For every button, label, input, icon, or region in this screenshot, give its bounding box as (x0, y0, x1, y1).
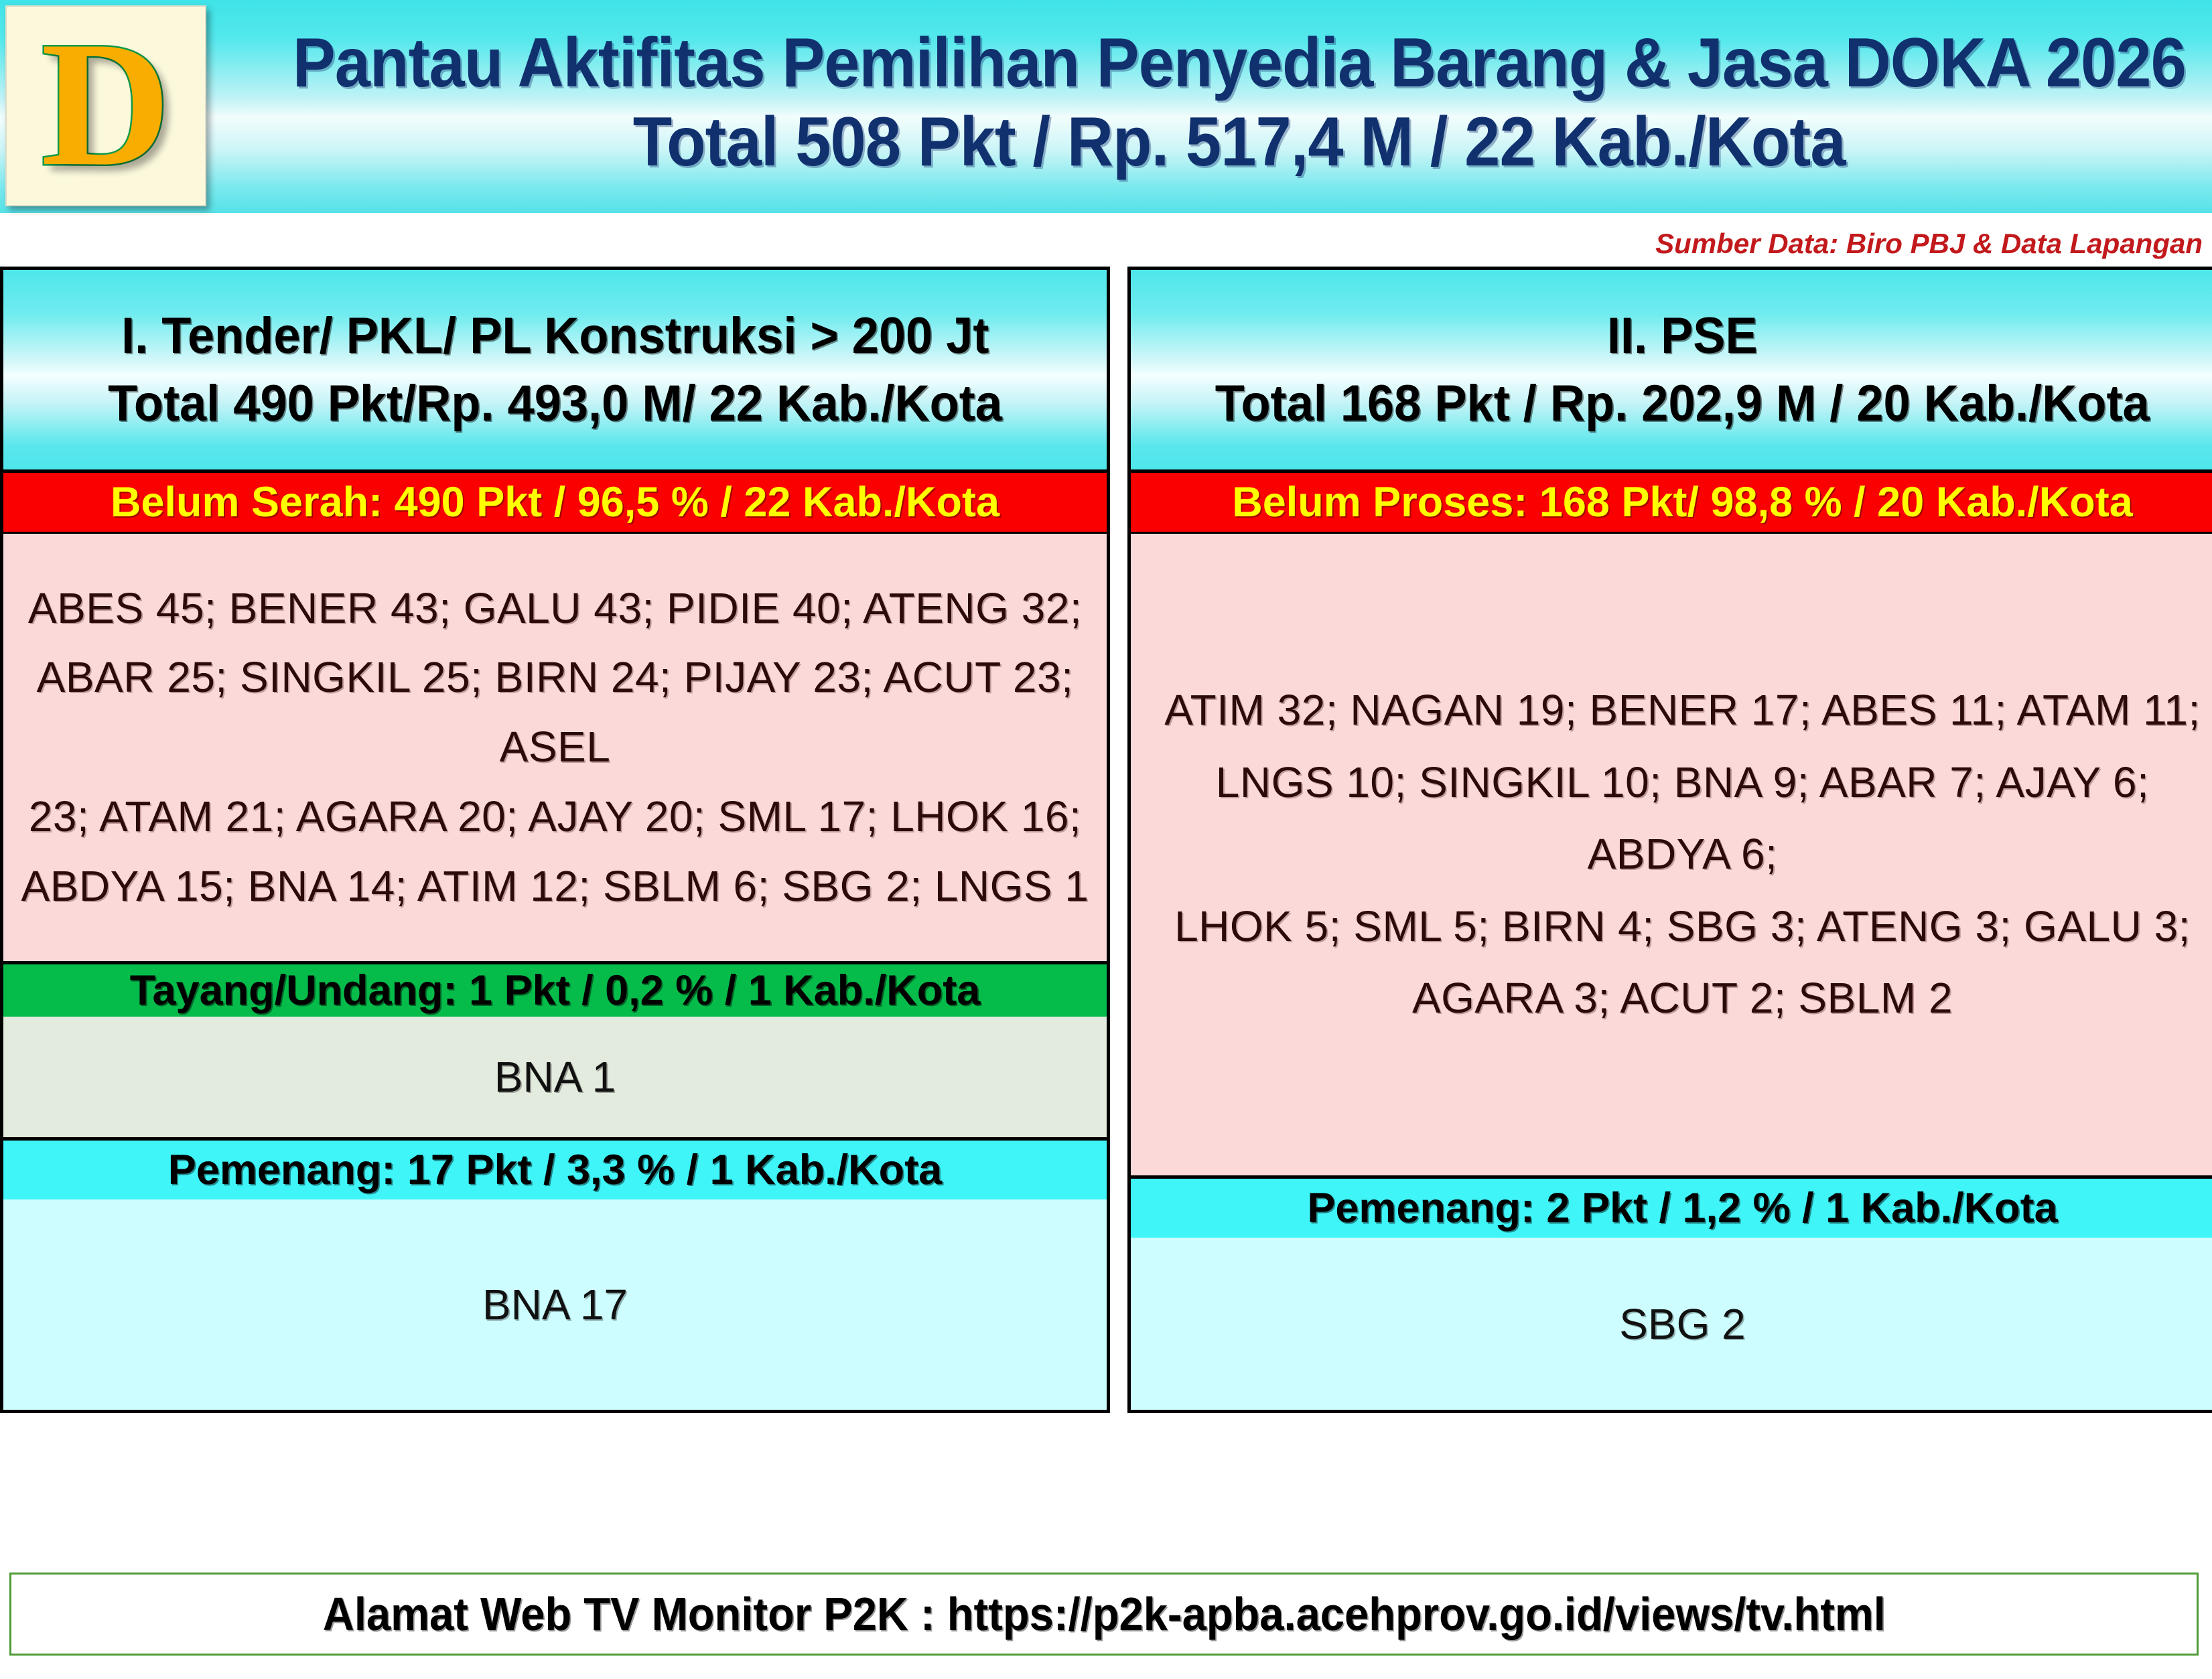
page-title: Pantau Aktifitas Pemilihan Penyedia Bara… (293, 25, 2186, 100)
panel-tender: I. Tender/ PKL/ PL Konstruksi > 200 Jt T… (0, 267, 1110, 1413)
panel-pse-title: II. PSE (1607, 307, 1758, 365)
list-item: 23; ATAM 21; AGARA 20; AJAY 20; SML 17; … (14, 782, 1096, 852)
list-item: ATIM 32; NAGAN 19; BENER 17; ABES 11; AT… (1142, 674, 2212, 747)
list-belum-proses: ATIM 32; NAGAN 19; BENER 17; ABES 11; AT… (1131, 534, 2212, 1175)
list-item: ABES 45; BENER 43; GALU 43; PIDIE 40; AT… (14, 574, 1096, 644)
page-subtitle-total: Total 508 Pkt / Rp. 517,4 M / 22 Kab./Ko… (633, 101, 1846, 184)
status-bar-belum-proses: Belum Proses: 168 Pkt/ 98,8 % / 20 Kab./… (1131, 473, 2212, 534)
list-item: BNA 1 (494, 1052, 616, 1102)
status-bar-belum-serah: Belum Serah: 490 Pkt / 96,5 % / 22 Kab./… (3, 473, 1107, 534)
list-pemenang-pse: SBG 2 (1131, 1238, 2212, 1410)
list-item: ABAR 25; SINGKIL 25; BIRN 24; PIJAY 23; … (14, 643, 1096, 782)
status-bar-pemenang-tender: Pemenang: 17 Pkt / 3,3 % / 1 Kab./Kota (3, 1137, 1107, 1199)
header-title-block: Pantau Aktifitas Pemilihan Penyedia Bara… (210, 0, 2212, 213)
logo-box: D (5, 5, 206, 206)
page-header: D Pantau Aktifitas Pemilihan Penyedia Ba… (0, 0, 2212, 213)
list-item: LHOK 5; SML 5; BIRN 4; SBG 3; ATENG 3; G… (1142, 891, 2212, 963)
panel-tender-header: I. Tender/ PKL/ PL Konstruksi > 200 Jt T… (3, 270, 1107, 473)
panel-pse-header: II. PSE Total 168 Pkt / Rp. 202,9 M / 20… (1131, 270, 2212, 473)
panel-tender-total: Total 490 Pkt/Rp. 493,0 M/ 22 Kab./Kota (108, 374, 1002, 433)
status-bar-pemenang-pse: Pemenang: 2 Pkt / 1,2 % / 1 Kab./Kota (1131, 1175, 2212, 1238)
list-item: ABDYA 15; BNA 14; ATIM 12; SBLM 6; SBG 2… (14, 852, 1096, 922)
list-item: LNGS 10; SINGKIL 10; BNA 9; ABAR 7; AJAY… (1142, 747, 2212, 891)
footer-bar: Alamat Web TV Monitor P2K : https://p2k-… (9, 1573, 2199, 1656)
panel-pse: II. PSE Total 168 Pkt / Rp. 202,9 M / 20… (1127, 267, 2212, 1413)
list-belum-serah: ABES 45; BENER 43; GALU 43; PIDIE 40; AT… (3, 534, 1107, 961)
panels-container: I. Tender/ PKL/ PL Konstruksi > 200 Jt T… (0, 267, 2212, 1413)
panel-tender-title: I. Tender/ PKL/ PL Konstruksi > 200 Jt (121, 307, 989, 365)
panel-pse-total: Total 168 Pkt / Rp. 202,9 M / 20 Kab./Ko… (1215, 374, 2150, 433)
footer-web-address: Alamat Web TV Monitor P2K : https://p2k-… (322, 1587, 1885, 1641)
list-item: BNA 17 (482, 1280, 628, 1329)
list-item: SBG 2 (1619, 1299, 1746, 1349)
list-item: AGARA 3; ACUT 2; SBLM 2 (1142, 962, 2212, 1035)
list-tayang-undang: BNA 1 (3, 1017, 1107, 1137)
list-belum-proses-text: ATIM 32; NAGAN 19; BENER 17; ABES 11; AT… (1142, 674, 2212, 1035)
logo-letter-d: D (41, 33, 171, 173)
data-source-note: Sumber Data: Biro PBJ & Data Lapangan (1655, 228, 2203, 260)
list-pemenang-tender: BNA 17 (3, 1199, 1107, 1410)
status-bar-tayang-undang: Tayang/Undang: 1 Pkt / 0,2 % / 1 Kab./Ko… (3, 961, 1107, 1017)
list-belum-serah-text: ABES 45; BENER 43; GALU 43; PIDIE 40; AT… (14, 574, 1096, 921)
